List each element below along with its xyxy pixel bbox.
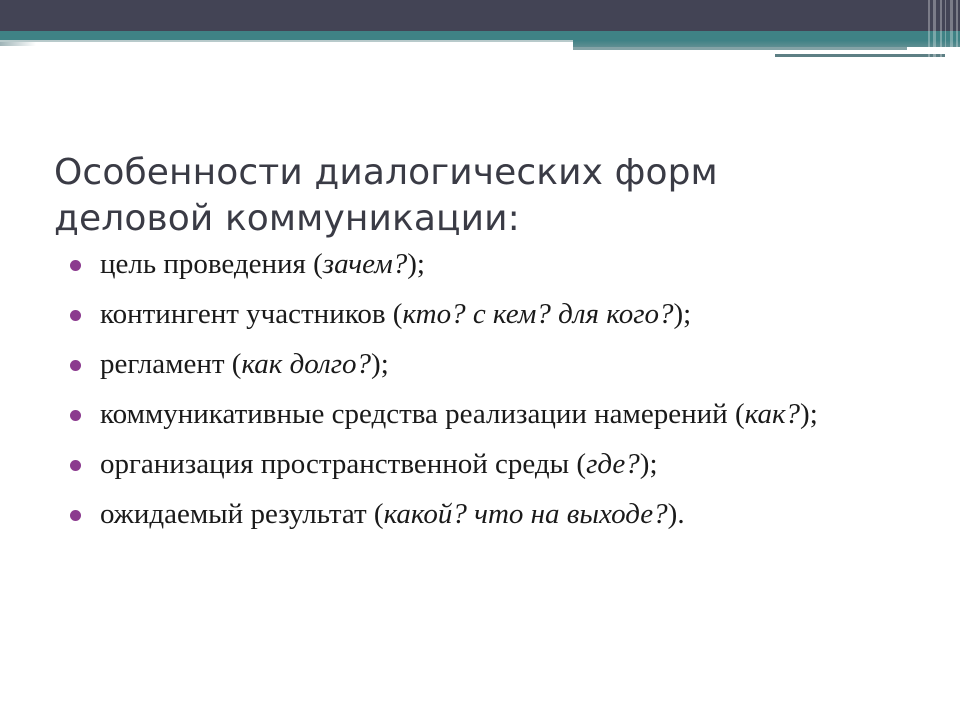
list-item-question: кто? с кем? для кого? (402, 298, 673, 330)
list-item-tail: ); (371, 348, 389, 380)
list-item-question: где? (586, 448, 640, 480)
stripe-1 (928, 0, 930, 70)
teal-band-right (573, 31, 960, 47)
list-item-question: как долго? (241, 348, 371, 380)
slide-title: Особенности диалогических форм деловой к… (54, 150, 814, 242)
list-item-question: какой? что на выходе? (384, 498, 668, 530)
list-item: цель проведения (зачем?); (62, 243, 922, 286)
list-item: регламент (как долго?); (62, 343, 922, 386)
teal-band-left (0, 31, 573, 40)
list-item-text: коммуникативные средства реализации наме… (100, 398, 745, 430)
bullet-dot-icon (70, 310, 81, 321)
accent-rule-one-highlight (573, 50, 907, 52)
list-item-question: зачем? (323, 248, 407, 280)
list-item-tail: ); (674, 298, 692, 330)
teal-band-left-fade (0, 40, 573, 42)
list-item-tail: ); (800, 398, 818, 430)
list-item-tail: ); (640, 448, 658, 480)
stripe-5 (950, 0, 953, 70)
stripe-6 (956, 0, 958, 70)
accent-rule-two-highlight (775, 57, 945, 59)
dark-band (0, 0, 960, 31)
bullet-dot-icon (70, 360, 81, 371)
bullet-dot-icon (70, 410, 81, 421)
list-item: контингент участников (кто? с кем? для к… (62, 293, 922, 336)
header-decoration (0, 0, 960, 70)
bullet-dot-icon (70, 460, 81, 471)
list-item-tail: ). (668, 498, 685, 530)
list-item-text: контингент участников ( (100, 298, 402, 330)
list-item-text: цель проведения ( (100, 248, 323, 280)
vertical-accent-stripes (926, 0, 960, 70)
rule-fade-left (0, 42, 36, 46)
list-item-text: организация пространственной среды ( (100, 448, 586, 480)
slide: Особенности диалогических форм деловой к… (0, 0, 960, 720)
stripe-3 (940, 0, 942, 70)
list-item-text: регламент ( (100, 348, 241, 380)
bullet-list: цель проведения (зачем?); контингент уча… (62, 243, 922, 543)
bullet-dot-icon (70, 510, 81, 521)
list-item: коммуникативные средства реализации наме… (62, 393, 922, 436)
list-item: организация пространственной среды (где?… (62, 443, 922, 486)
list-item: ожидаемый результат (какой? что на выход… (62, 493, 922, 536)
stripe-4 (945, 0, 946, 70)
list-item-text: ожидаемый результат ( (100, 498, 384, 530)
stripe-2 (933, 0, 936, 70)
list-item-question: как? (745, 398, 800, 430)
list-item-tail: ); (407, 248, 425, 280)
bullet-dot-icon (70, 260, 81, 271)
